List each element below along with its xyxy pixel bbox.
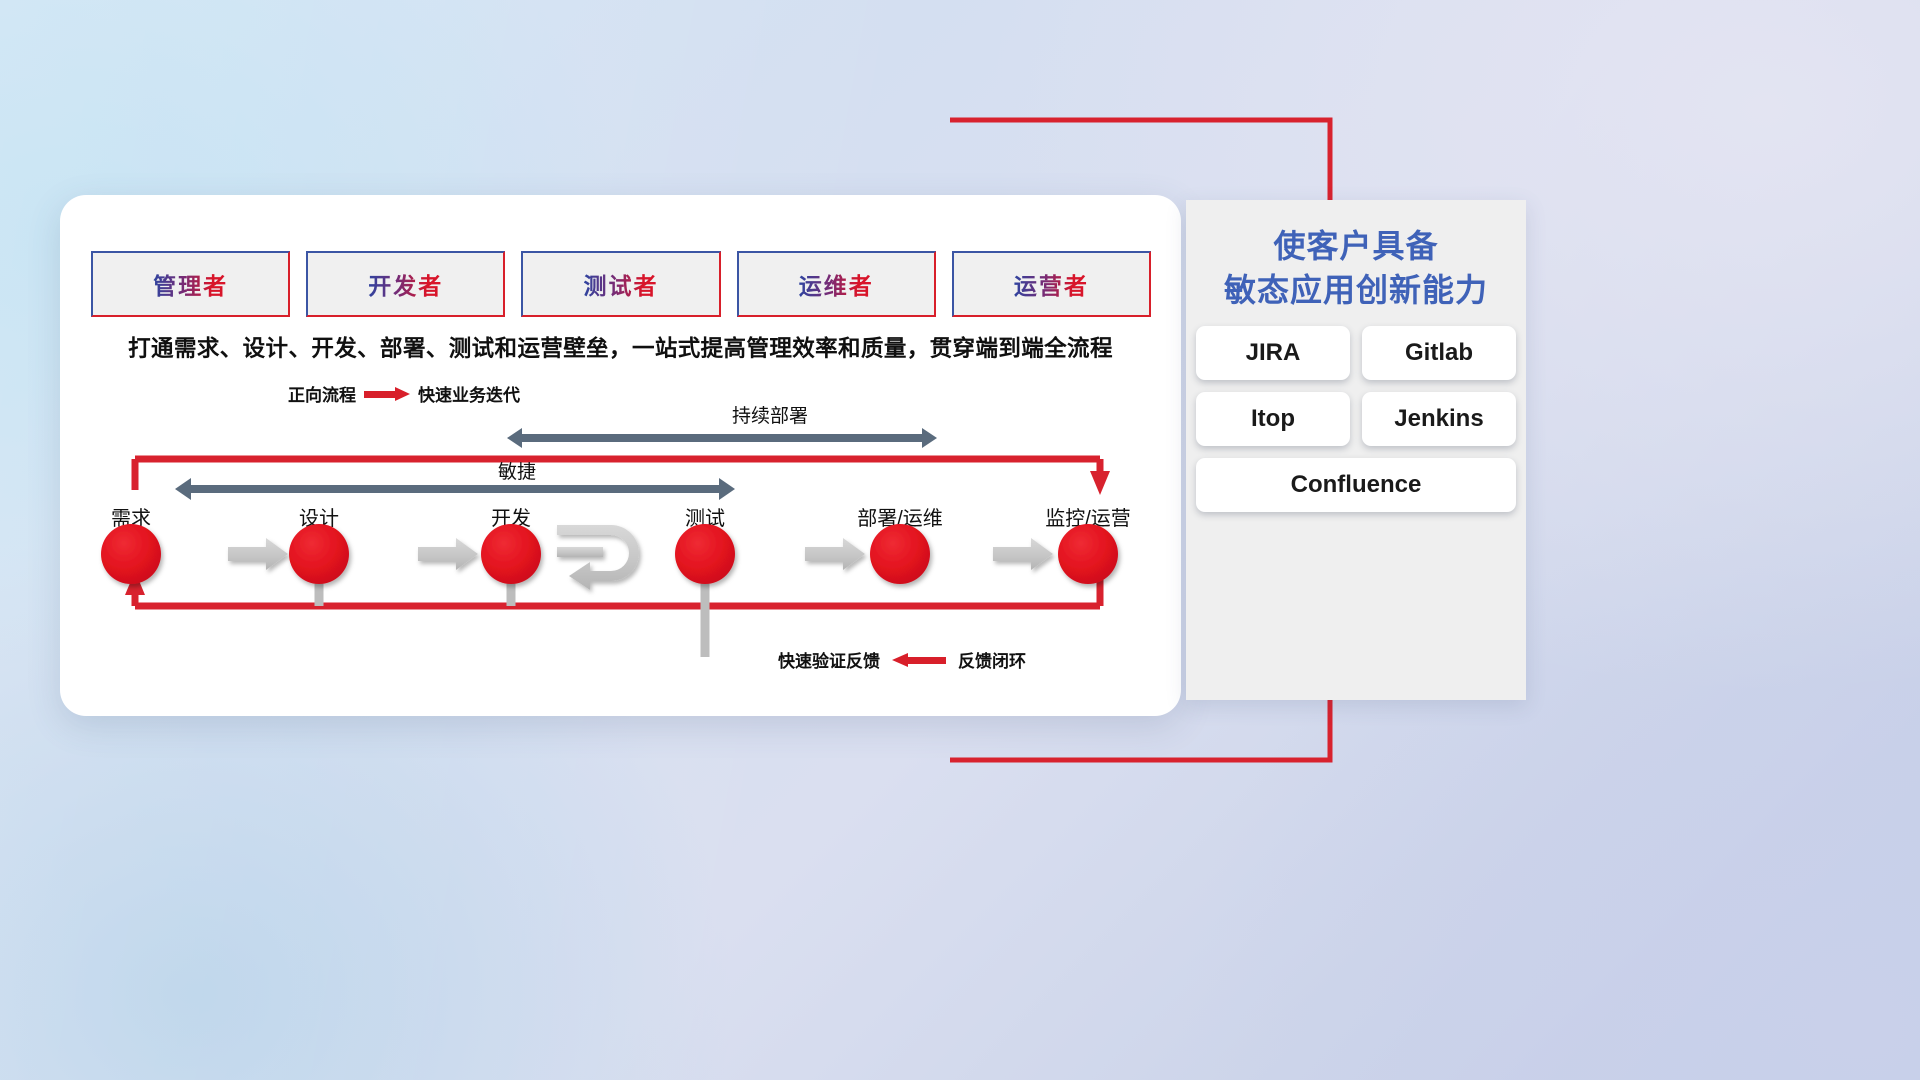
tool-button-gitlab[interactable]: Gitlab [1362,326,1516,380]
iteration-loop-arrow-icon [557,525,639,590]
flow-node-circle [675,524,735,584]
continuous-deploy-span: 持续部署 [507,405,937,448]
flow-node-labels: 需求 设计 开发 测试 部署/运维 监控/运营 [111,507,1131,530]
block-arrow-icon [228,538,288,570]
main-diagram-card: 管理者 开发者 测试者 运维者 运营者 打通需求、设计、开发、部署、测试和运营壁… [60,195,1181,716]
flow-node-circle [289,524,349,584]
flow-node-circle [870,524,930,584]
tool-button-jira[interactable]: JIRA [1196,326,1350,380]
flow-node-circle [101,524,161,584]
panel-title-line1: 使客户具备 [1186,224,1526,268]
agile-label: 敏捷 [498,461,536,483]
devops-flow-diagram: 持续部署 敏捷 [60,195,1181,716]
flow-node-circle [1058,524,1118,584]
block-arrow-icon [418,538,478,570]
flow-node-circle [481,524,541,584]
double-arrow-continuous-deploy [507,428,937,448]
panel-title-line2: 敏态应用创新能力 [1186,268,1526,312]
tool-button-itop[interactable]: Itop [1196,392,1350,446]
tools-list: JIRA Gitlab Itop Jenkins Confluence [1196,326,1516,512]
block-arrow-icon [993,538,1053,570]
tool-button-jenkins[interactable]: Jenkins [1362,392,1516,446]
agile-span: 敏捷 [175,461,735,500]
tools-panel: 使客户具备 敏态应用创新能力 JIRA Gitlab Itop Jenkins … [1186,200,1526,700]
double-arrow-agile [175,478,735,500]
panel-title: 使客户具备 敏态应用创新能力 [1186,200,1526,312]
block-arrow-icon [805,538,865,570]
continuous-deploy-label: 持续部署 [732,405,808,427]
tool-button-confluence[interactable]: Confluence [1196,458,1516,512]
